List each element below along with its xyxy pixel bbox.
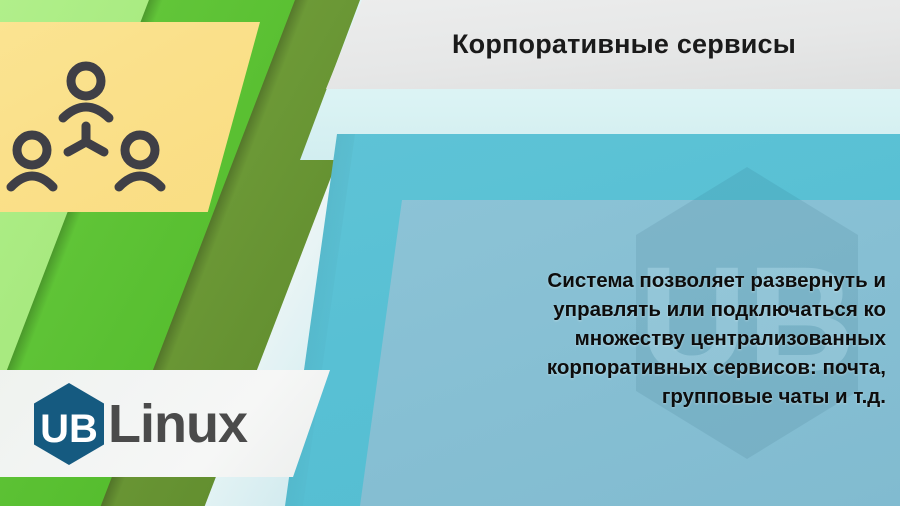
brand-logo-bar: UB Linux — [0, 370, 330, 477]
ub-hexagon-icon: UB — [32, 382, 106, 466]
slide-title-bar: Корпоративные сервисы — [326, 0, 900, 89]
page-title: Корпоративные сервисы — [430, 29, 796, 60]
group-people-icon — [6, 58, 166, 198]
logo-wordmark: Linux — [108, 397, 247, 451]
logo-lockup: UB Linux — [32, 382, 247, 466]
svg-text:UB: UB — [40, 407, 98, 451]
slide-body-text: Система позволяет развернуть и управлять… — [470, 266, 886, 412]
slide-canvas: UB Корпоративные сервисы — [0, 0, 900, 506]
